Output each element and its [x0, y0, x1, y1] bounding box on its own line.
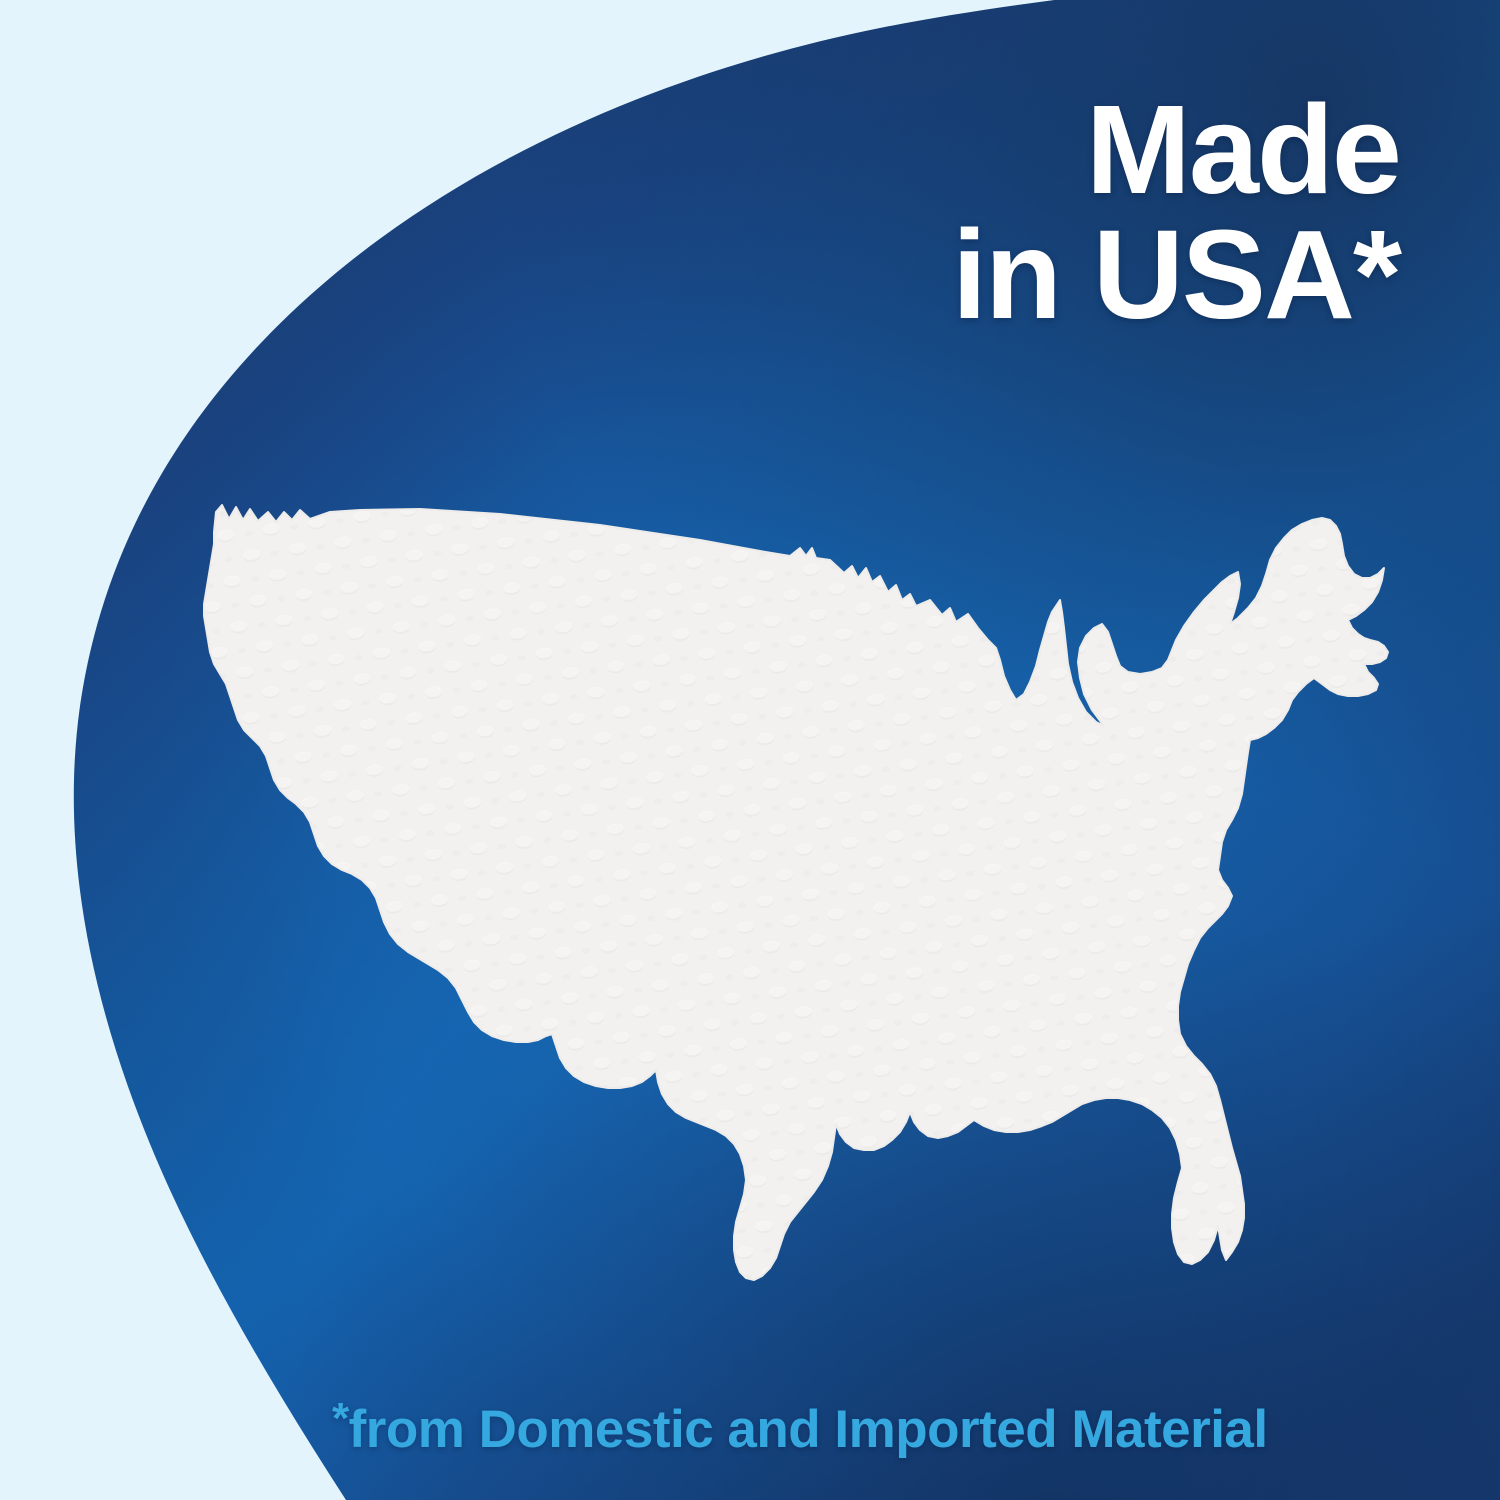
footnote: *from Domestic and Imported Material: [332, 1394, 1268, 1460]
headline-line-2: in USA*: [952, 213, 1400, 338]
footnote-text: from Domestic and Imported Material: [349, 1400, 1268, 1459]
headline-line-1: Made: [952, 88, 1400, 213]
headline: Made in USA*: [952, 88, 1400, 337]
made-in-usa-graphic: Made in USA* *from Domestic and Imported…: [0, 0, 1500, 1500]
footnote-asterisk: *: [332, 1394, 349, 1443]
